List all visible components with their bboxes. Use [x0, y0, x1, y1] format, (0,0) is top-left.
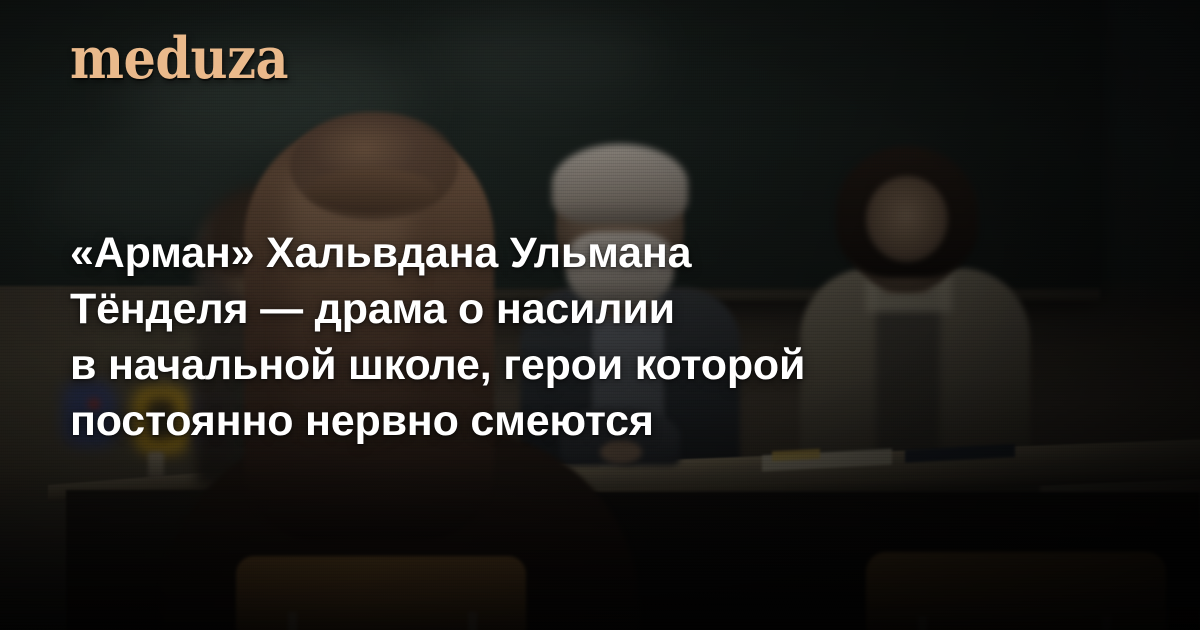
headline-line-2: Тёнделя — драма о насилии — [70, 281, 1070, 337]
headline-line-1: «Арман» Хальвдана Ульмана — [70, 225, 1070, 281]
headline-line-4: постоянно нервно смеются — [70, 393, 1070, 449]
card-overlay: meduza «Арман» Хальвдана Ульмана Тёнделя… — [0, 0, 1200, 630]
page-title: «Арман» Хальвдана Ульмана Тёнделя — драм… — [70, 225, 1070, 449]
meduza-share-card: meduza «Арман» Хальвдана Ульмана Тёнделя… — [0, 0, 1200, 630]
headline-line-3: в начальной школе, герои которой — [70, 337, 1070, 393]
meduza-logo-text: meduza — [70, 30, 288, 87]
meduza-logo[interactable]: meduza — [70, 30, 288, 87]
